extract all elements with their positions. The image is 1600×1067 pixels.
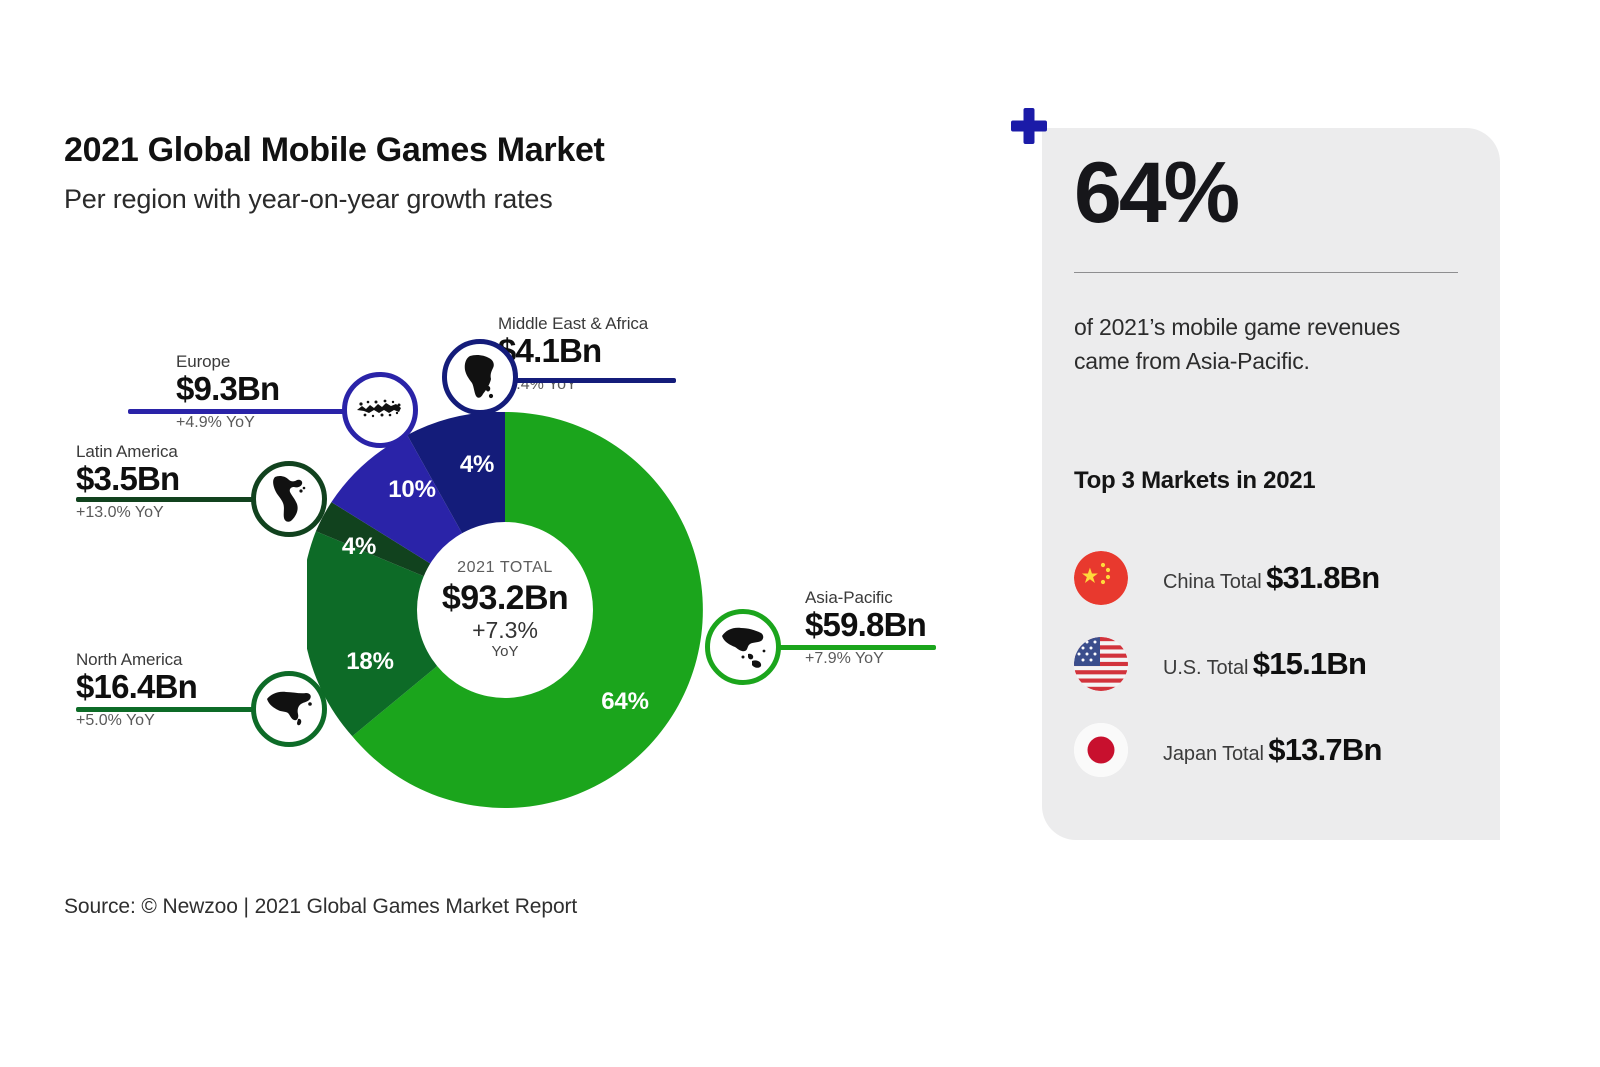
- africa-map-glyph: [460, 353, 500, 401]
- asia-pacific-map-glyph: [719, 623, 767, 671]
- market-name: Japan Total: [1163, 743, 1264, 765]
- latin-america-map-glyph: [269, 473, 309, 525]
- donut-center-growth-unit: YoY: [414, 644, 596, 661]
- slice-label-mea: 4%: [460, 451, 494, 479]
- callout-asia-pacific-region: Asia-Pacific: [805, 588, 1005, 608]
- callout-north-america-yoy: +5.0% YoY: [76, 712, 276, 730]
- callout-north-america-value: $16.4Bn: [76, 669, 276, 705]
- list-item[interactable]: China Total $31.8Bn: [1074, 535, 1454, 621]
- europe-map-icon: [342, 372, 418, 448]
- africa-map-icon: [442, 339, 518, 415]
- donut-center-growth: +7.3%: [414, 618, 596, 644]
- north-america-map-glyph: [263, 688, 315, 730]
- callout-europe-region: Europe: [176, 352, 410, 372]
- list-item[interactable]: Japan Total $13.7Bn: [1074, 707, 1454, 793]
- market-name: U.S. Total: [1163, 657, 1248, 679]
- callout-mea-value: $4.1Bn: [498, 333, 688, 369]
- flag-china-glyph: [1074, 551, 1128, 605]
- connector-europe: [128, 409, 350, 414]
- market-value: $15.1Bn: [1253, 646, 1366, 681]
- flag-japan-glyph: [1074, 723, 1128, 777]
- market-info: Japan Total $13.7Bn: [1163, 733, 1382, 768]
- callout-asia-pacific: Asia-Pacific $59.8Bn +7.9% YoY: [805, 588, 1005, 668]
- slice-label-europe: 10%: [388, 476, 435, 504]
- top-markets-title: Top 3 Markets in 2021: [1074, 467, 1315, 495]
- headline-percentage: 64%: [1074, 150, 1237, 236]
- connector-asia-pacific: [772, 645, 936, 650]
- callout-mea-region: Middle East & Africa: [498, 314, 688, 334]
- callout-latam-region: Latin America: [76, 442, 276, 462]
- plus-icon: [1008, 105, 1050, 147]
- connector-mea: [508, 378, 676, 383]
- asia-pacific-map-icon: [705, 609, 781, 685]
- market-name: China Total: [1163, 571, 1262, 593]
- market-value: $31.8Bn: [1266, 560, 1379, 595]
- latin-america-map-icon: [251, 461, 327, 537]
- card-divider: [1074, 272, 1458, 273]
- donut-center-value: $93.2Bn: [414, 579, 596, 617]
- source-note: Source: © Newzoo | 2021 Global Games Mar…: [64, 895, 577, 919]
- slice-label-north-america: 18%: [346, 648, 393, 676]
- callout-latam: Latin America $3.5Bn +13.0% YoY: [76, 442, 276, 522]
- slice-label-latin-america: 4%: [342, 533, 376, 561]
- flag-usa-glyph: [1074, 637, 1128, 691]
- flag-japan-icon: [1074, 723, 1128, 777]
- europe-map-glyph: [355, 396, 405, 424]
- market-info: U.S. Total $15.1Bn: [1163, 647, 1366, 682]
- page-title: 2021 Global Mobile Games Market: [64, 131, 605, 170]
- slice-label-asia-pacific: 64%: [601, 688, 648, 716]
- flag-china-icon: [1074, 551, 1128, 605]
- top-markets-list: China Total $31.8Bn: [1074, 535, 1454, 793]
- callout-north-america-region: North America: [76, 650, 276, 670]
- donut-chart: 64% 18% 4% 10% 4% 2021 TOTAL $93.2Bn +7.…: [307, 412, 703, 808]
- market-value: $13.7Bn: [1268, 732, 1381, 767]
- market-info: China Total $31.8Bn: [1163, 561, 1379, 596]
- callout-north-america: North America $16.4Bn +5.0% YoY: [76, 650, 276, 730]
- page-subtitle: Per region with year-on-year growth rate…: [64, 184, 553, 215]
- callout-latam-value: $3.5Bn: [76, 461, 276, 497]
- donut-center-total: 2021 TOTAL $93.2Bn +7.3% YoY: [414, 559, 596, 661]
- connector-north-america: [76, 707, 262, 712]
- card-body-text: of 2021’s mobile game revenues came from…: [1074, 310, 1432, 378]
- connector-latam: [76, 497, 262, 502]
- callout-asia-pacific-yoy: +7.9% YoY: [805, 650, 1005, 668]
- donut-center-label: 2021 TOTAL: [414, 559, 596, 577]
- flag-usa-icon: [1074, 637, 1128, 691]
- callout-asia-pacific-value: $59.8Bn: [805, 607, 1005, 643]
- list-item[interactable]: U.S. Total $15.1Bn: [1074, 621, 1454, 707]
- callout-latam-yoy: +13.0% YoY: [76, 504, 276, 522]
- north-america-map-icon: [251, 671, 327, 747]
